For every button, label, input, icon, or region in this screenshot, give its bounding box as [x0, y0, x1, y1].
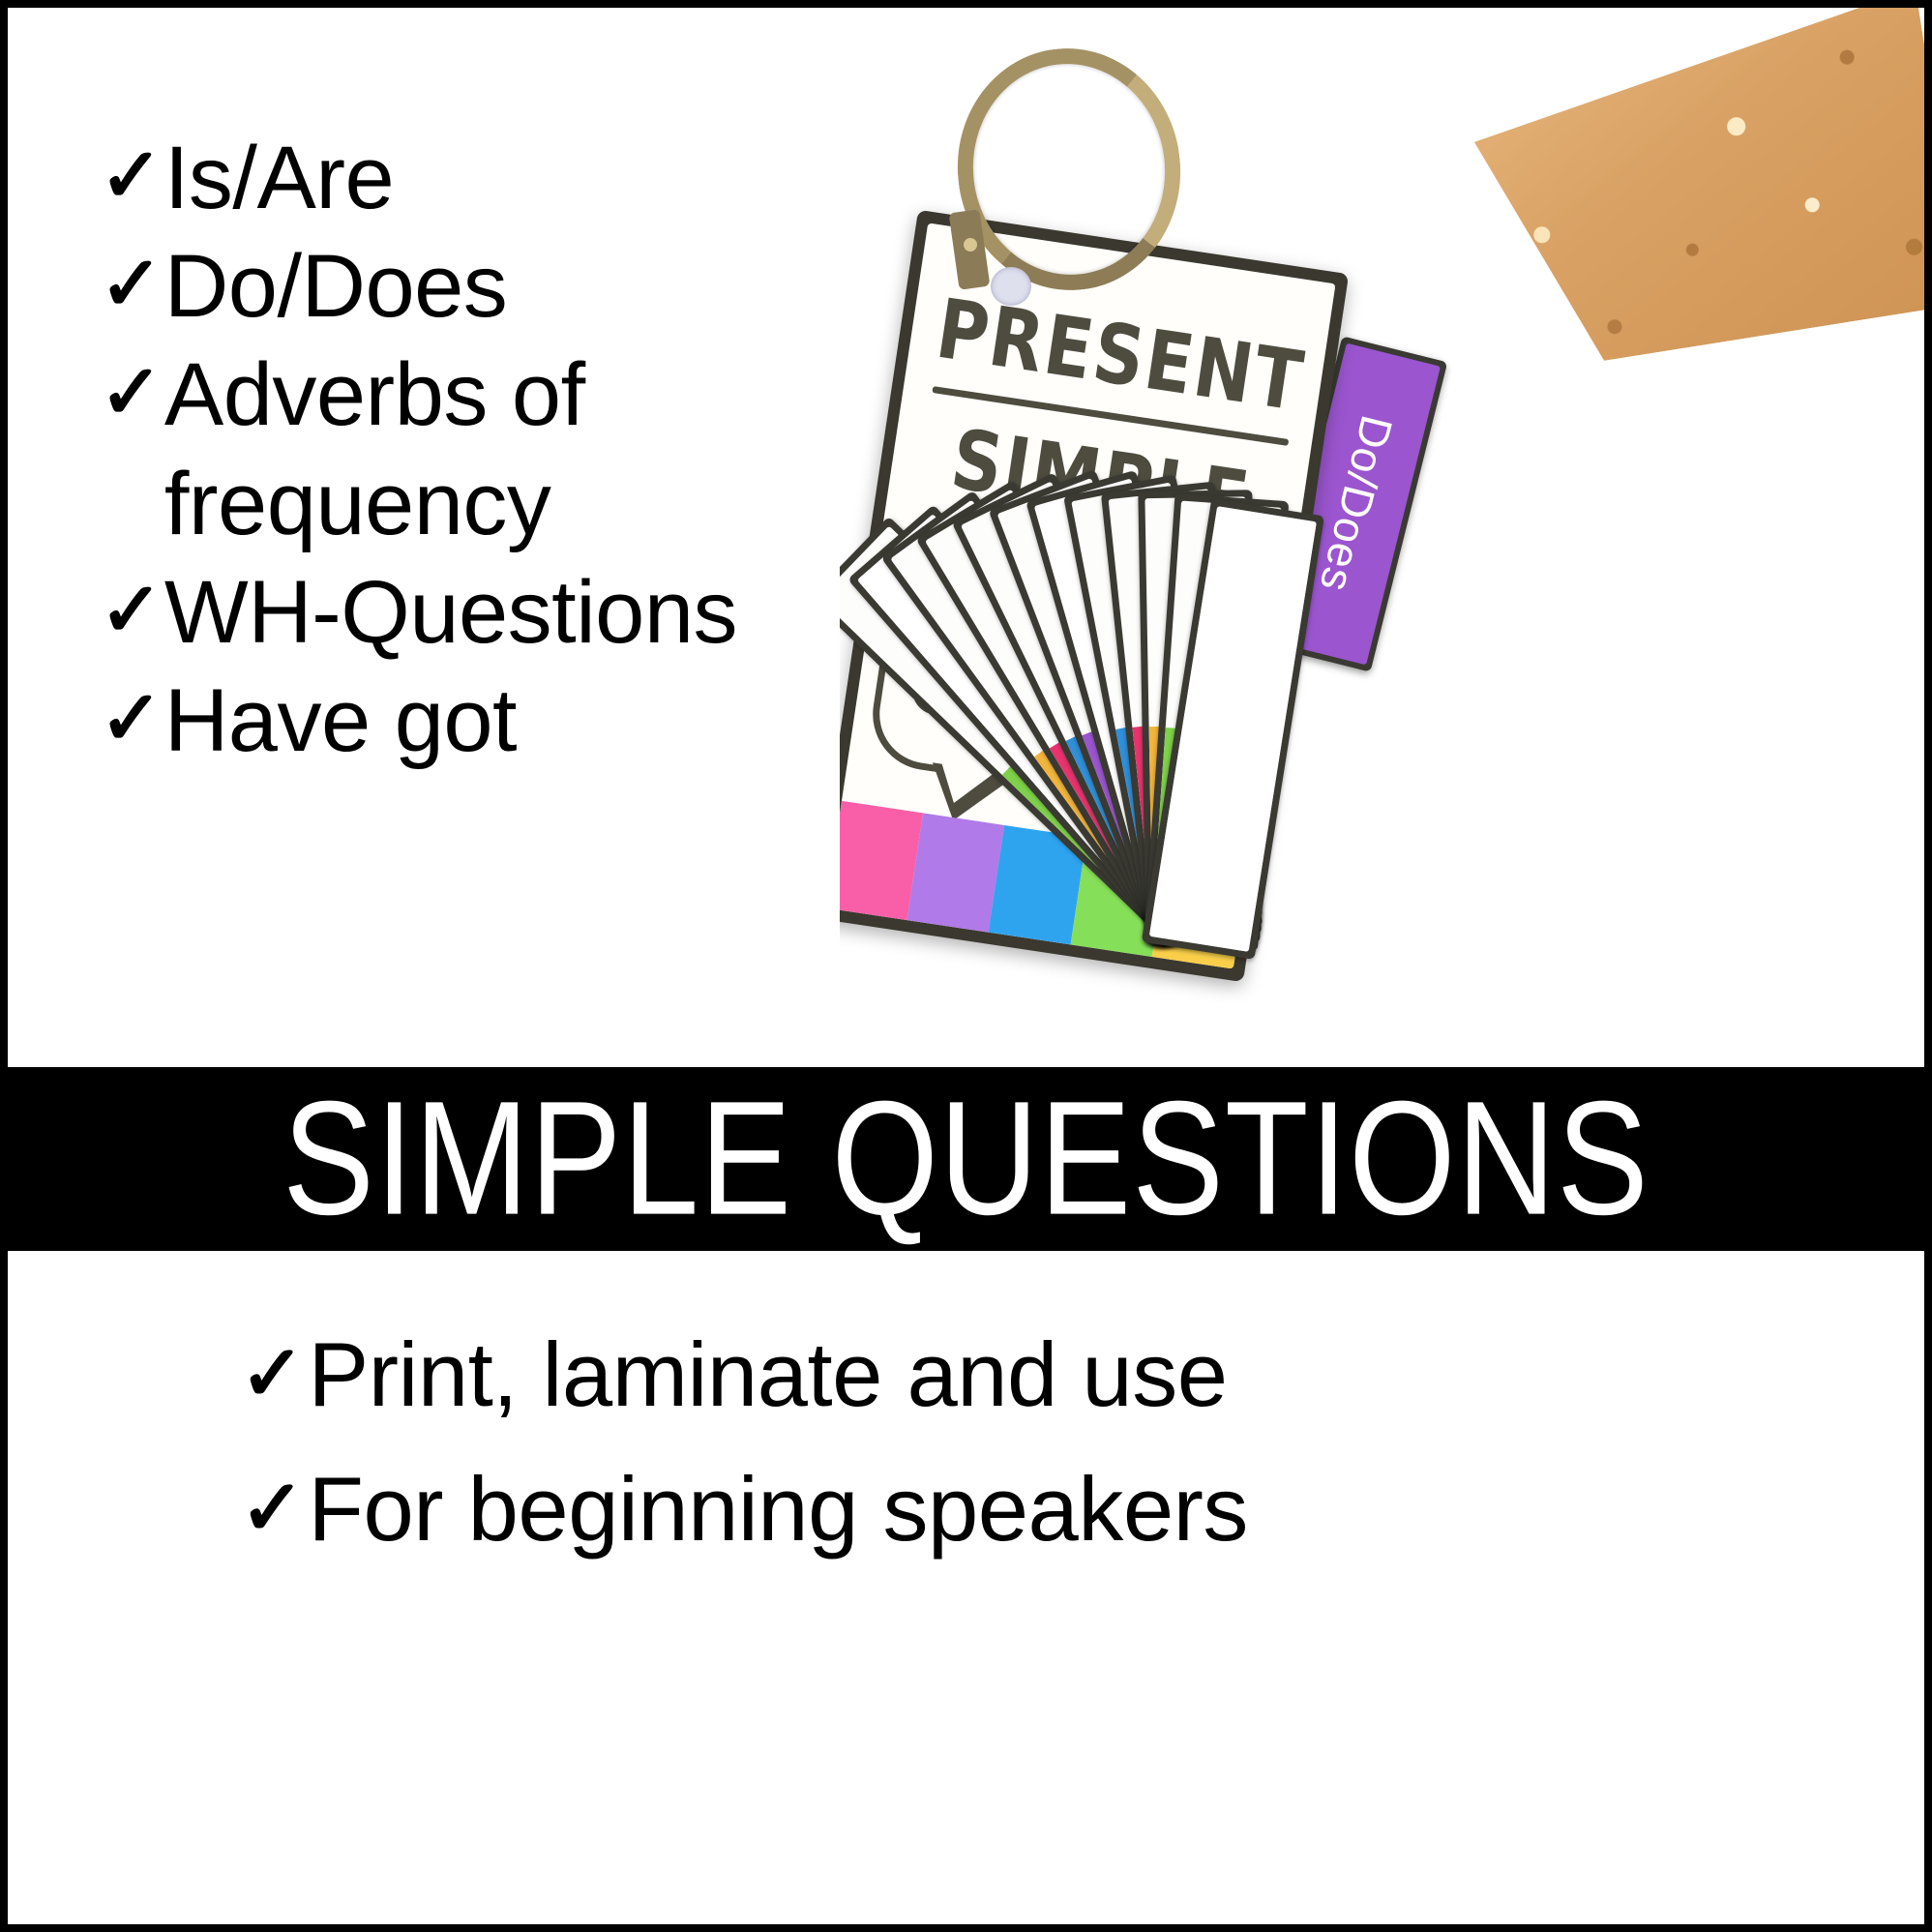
list-item: ✓ Print, laminate and use: [240, 1307, 1710, 1442]
page-title: SIMPLE QUESTIONS: [282, 1065, 1650, 1253]
title-banner: SIMPLE QUESTIONS: [0, 1067, 1932, 1251]
binder-hole-reinforcement: [991, 267, 1031, 306]
check-icon: ✓: [100, 232, 163, 337]
list-item: ✓ Have got: [100, 667, 893, 775]
product-photo: Do/Does PRESENT SIMPLE Conversation QUES…: [840, 8, 1924, 1067]
list-item-label: WH-Questions: [164, 558, 737, 667]
top-panel: ✓ Is/Are ✓ Do/Does ✓ Adverbs of frequenc…: [8, 8, 1924, 1067]
check-icon: ✓: [240, 1307, 305, 1441]
feature-checklist: ✓ Is/Are ✓ Do/Does ✓ Adverbs of frequenc…: [100, 124, 893, 775]
list-item: ✓ Do/Does: [100, 232, 893, 341]
list-item-label: Is/Are: [164, 124, 394, 232]
binder-ring-rivet: [964, 238, 977, 252]
list-item: ✓ Adverbs of frequency: [100, 341, 893, 557]
list-item: ✓ For beginning speakers: [240, 1442, 1710, 1576]
list-item: ✓ Is/Are: [100, 124, 893, 232]
list-item-label: Adverbs of frequency: [164, 341, 784, 557]
cork-board-background: [1400, 8, 1924, 385]
check-icon: ✓: [100, 558, 163, 663]
list-item-label: For beginning speakers: [309, 1442, 1248, 1576]
color-strip-segment-1: [907, 813, 1005, 932]
check-icon: ✓: [100, 341, 163, 445]
list-item-label: Have got: [164, 667, 517, 775]
list-item-label: Print, laminate and use: [309, 1307, 1228, 1442]
list-item: ✓ WH-Questions: [100, 558, 893, 667]
poster-canvas: ✓ Is/Are ✓ Do/Does ✓ Adverbs of frequenc…: [0, 0, 1932, 1932]
check-icon: ✓: [100, 667, 163, 771]
usage-checklist: ✓ Print, laminate and use ✓ For beginnin…: [240, 1307, 1710, 1576]
cover-title-line-1: PRESENT: [931, 281, 1308, 430]
list-item-label: Do/Does: [164, 232, 507, 341]
check-icon: ✓: [100, 124, 163, 228]
bottom-panel: ✓ Print, laminate and use ✓ For beginnin…: [8, 1251, 1924, 1924]
check-icon: ✓: [240, 1442, 305, 1575]
